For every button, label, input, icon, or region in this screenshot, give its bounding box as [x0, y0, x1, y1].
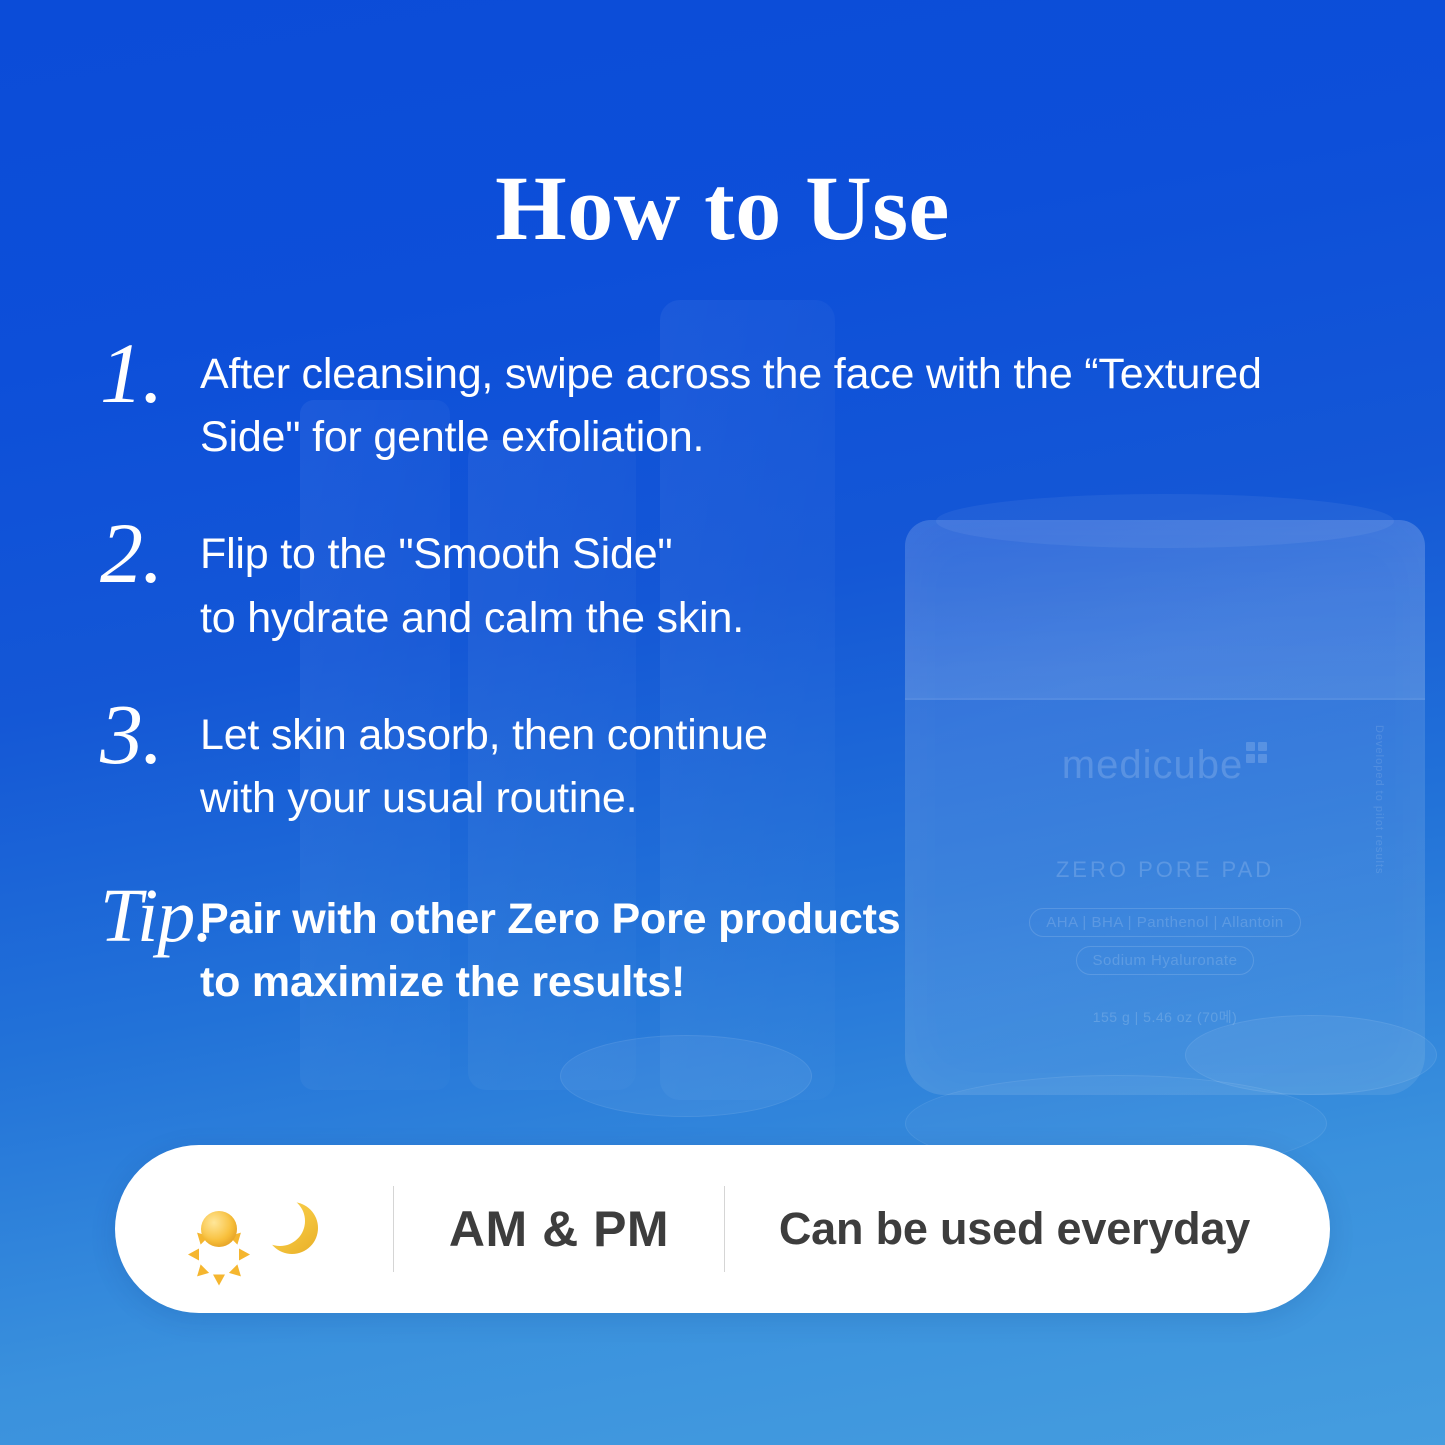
step-text: Flip to the "Smooth Side"to hydrate and … [200, 507, 1349, 649]
how-to-use-poster: medicube ZERO PORE PAD AHA | BHA | Panth… [0, 0, 1445, 1445]
step-text: Let skin absorb, then continuewith your … [200, 688, 1349, 830]
tip-text: Pair with other Zero Pore productsto max… [200, 868, 1349, 1014]
instruction-step-2: 2. Flip to the "Smooth Side"to hydrate a… [96, 507, 1349, 649]
instruction-step-3: 3. Let skin absorb, then continuewith yo… [96, 688, 1349, 830]
instruction-step-tip: Tip. Pair with other Zero Pore productst… [96, 868, 1349, 1014]
step-number: 2. [96, 507, 200, 600]
step-number: 3. [96, 688, 200, 781]
instruction-step-1: 1. After cleansing, swipe across the fac… [96, 327, 1349, 469]
step-number: 1. [96, 327, 200, 420]
sun-icon [188, 1198, 250, 1260]
usage-summary-bar: AM & PM Can be used everyday [115, 1145, 1330, 1313]
crescent-moon-icon [264, 1200, 320, 1258]
tip-label: Tip. [96, 868, 200, 962]
page-title: How to Use [0, 155, 1445, 261]
usage-icons [115, 1198, 393, 1260]
time-of-day-label: AM & PM [394, 1200, 724, 1258]
usage-frequency-label: Can be used everyday [725, 1203, 1330, 1255]
ghost-side-text: Developed to pilot results [1371, 725, 1388, 875]
instruction-list: 1. After cleansing, swipe across the fac… [96, 327, 1349, 1053]
step-text: After cleansing, swipe across the face w… [200, 327, 1349, 469]
